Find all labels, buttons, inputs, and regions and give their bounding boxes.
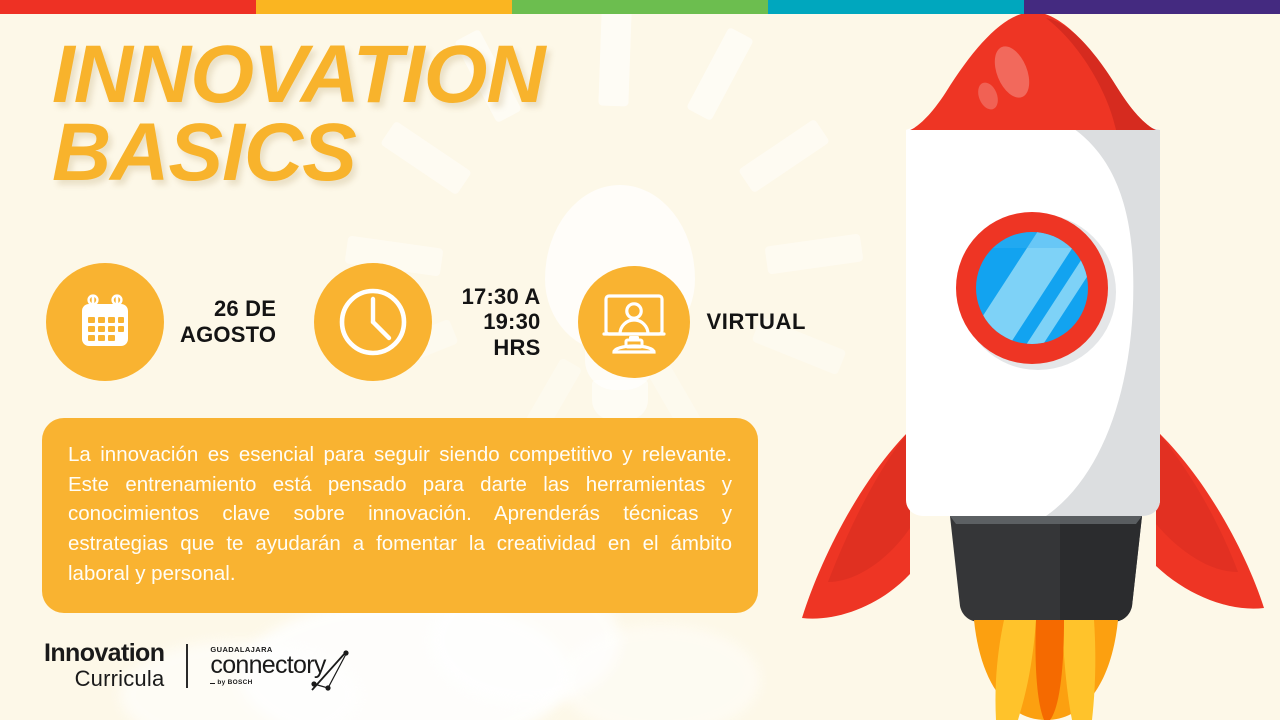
- top-color-bar: [0, 0, 1280, 14]
- monitor-person-icon: [598, 286, 670, 358]
- topbar-segment-orange: [256, 0, 512, 14]
- info-item-date: 26 DE AGOSTO: [46, 263, 276, 381]
- logo-innovation-word: Innovation: [44, 641, 164, 666]
- byline-text: by BOSCH: [217, 680, 252, 687]
- topbar-segment-teal: [768, 0, 1024, 14]
- logo-curricula-word: Curricula: [75, 667, 165, 690]
- topbar-segment-purple: [1024, 0, 1280, 14]
- info-item-time: 17:30 A 19:30 HRS: [314, 263, 540, 381]
- description-card: La innovación es esencial para seguir si…: [42, 418, 758, 613]
- page-title: INNOVATION BASICS: [52, 36, 692, 192]
- modality-icon-badge: [578, 266, 690, 378]
- date-label: 26 DE AGOSTO: [180, 296, 276, 347]
- date-icon-badge: [46, 263, 164, 381]
- modality-label: VIRTUAL: [706, 309, 806, 335]
- engine-top-lip: [950, 516, 1142, 524]
- clock-icon: [333, 282, 413, 362]
- logo-bar: Innovation Curricula GUADALAJARA connect…: [44, 640, 326, 692]
- topbar-segment-green: [512, 0, 768, 14]
- time-label: 17:30 A 19:30 HRS: [448, 284, 540, 361]
- byline-dash: [210, 683, 215, 684]
- logo-connectory: GUADALAJARA connectory by BOSCH: [210, 646, 325, 687]
- rocket-illustration: [760, 0, 1280, 720]
- topbar-segment-red: [0, 0, 256, 14]
- event-info-row: 26 DE AGOSTO 17:30 A 19:30 HRS: [46, 262, 806, 382]
- info-item-modality: VIRTUAL: [578, 266, 806, 378]
- time-icon-badge: [314, 263, 432, 381]
- logo-divider: [186, 644, 188, 688]
- content-column: INNOVATION BASICS: [0, 0, 800, 720]
- logo-innovation-curricula: Innovation Curricula: [44, 641, 164, 690]
- engine-nozzle-shade: [1060, 516, 1142, 622]
- poster-canvas: INNOVATION BASICS: [0, 0, 1280, 720]
- calendar-icon: [73, 290, 137, 354]
- network-nodes-icon: [306, 648, 352, 694]
- title-line-2: BASICS: [52, 114, 692, 192]
